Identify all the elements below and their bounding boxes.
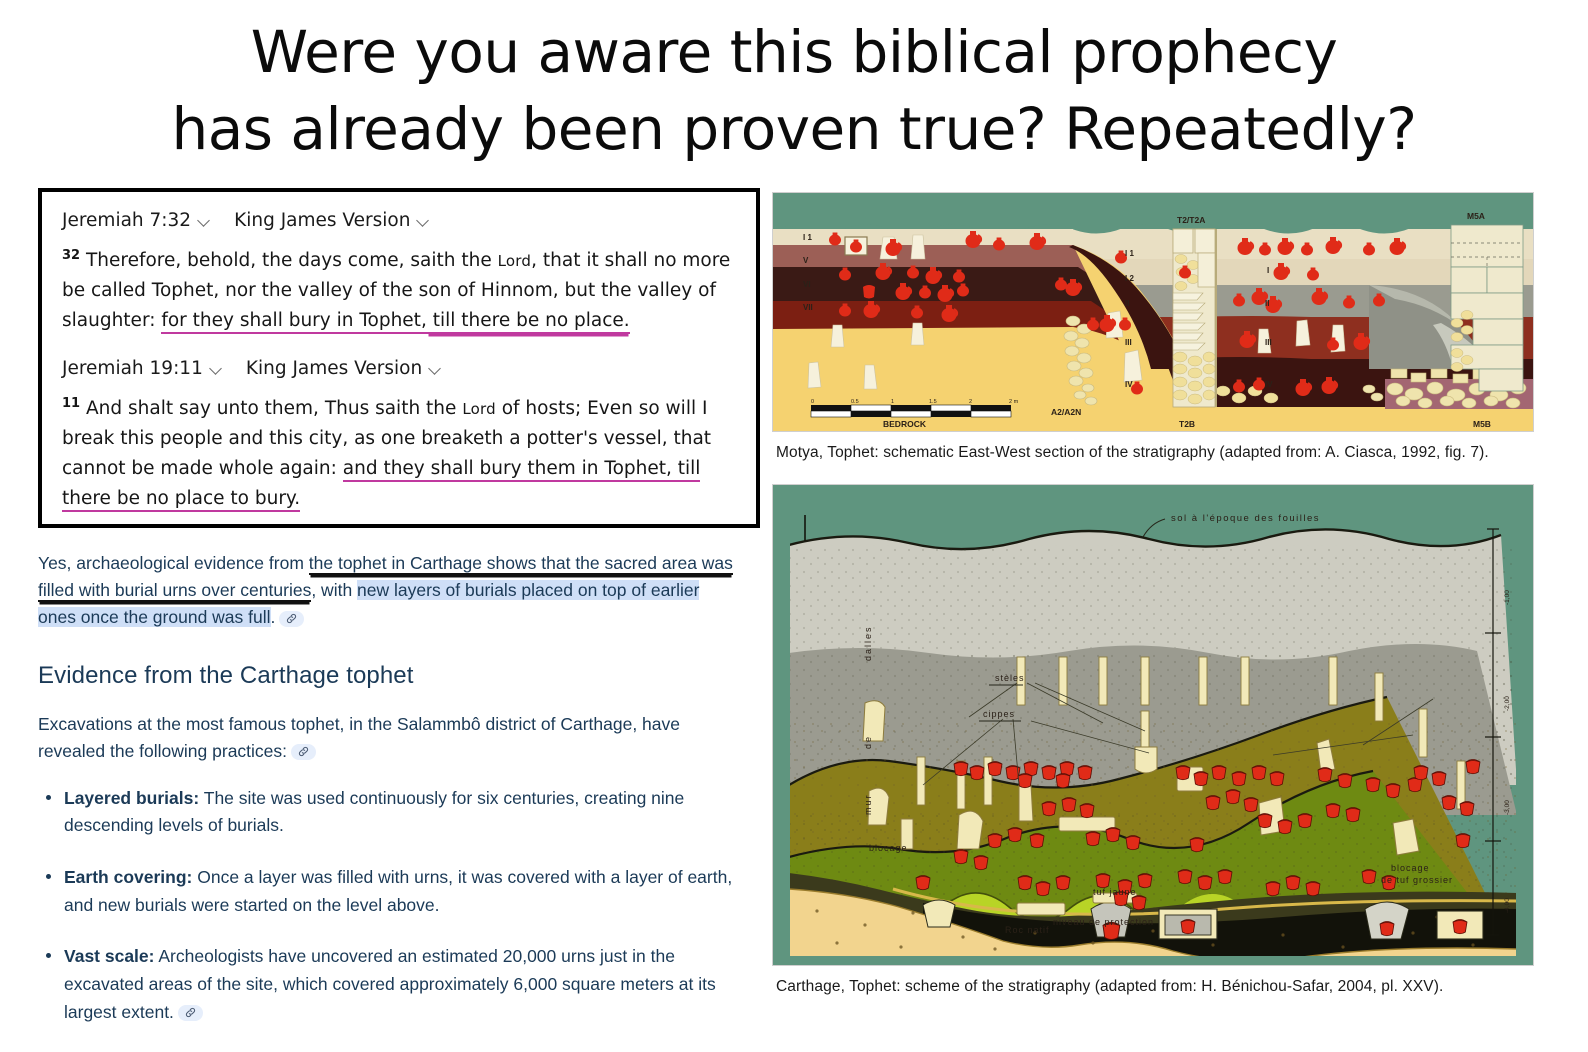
divine-name: Lord: [498, 252, 532, 270]
carthage-label-niveau: niveau de protection: [1053, 917, 1154, 927]
carthage-label-cippes: cippes: [983, 709, 1015, 719]
verse-reference-selector[interactable]: Jeremiah 19:11: [62, 358, 203, 379]
motya-label-I2-right: I 2: [1125, 274, 1134, 283]
carthage-label-mur: mur: [863, 794, 873, 816]
chevron-down-icon[interactable]: [429, 363, 441, 375]
verse-text: 32 Therefore, behold, the days come, sai…: [62, 245, 738, 336]
translation-selector[interactable]: King James Version: [234, 210, 410, 231]
motya-figure-caption: Motya, Tophet: schematic East-West secti…: [776, 444, 1534, 462]
right-figure-column: I 1 V VI VII I 1 I 2 II III IV I II III …: [772, 192, 1534, 996]
verse-number: 11: [62, 396, 80, 411]
carthage-label-sol: sol à l'époque des fouilles: [1171, 513, 1320, 524]
answer-intro-c: .: [271, 607, 276, 627]
carthage-label-de: de: [863, 735, 873, 749]
motya-figure: I 1 V VI VII I 1 I 2 II III IV I II III …: [772, 192, 1534, 432]
motya-label-I: I: [1267, 266, 1269, 275]
motya-label-III: III: [1265, 338, 1272, 347]
list-item-label: Vast scale:: [64, 946, 154, 966]
svg-text:-1,00: -1,00: [1504, 590, 1511, 605]
motya-label-II: II: [1265, 299, 1269, 308]
answer-intro-b: , with: [311, 580, 357, 600]
chevron-down-icon[interactable]: [417, 215, 429, 227]
verse-text: 11 And shalt say unto them, Thus saith t…: [62, 393, 738, 514]
carthage-label-dalles: dalles: [863, 625, 873, 661]
practices-list: Layered burials: The site was used conti…: [38, 785, 738, 1026]
headline-line-1: Were you aware this biblical prophecy: [0, 14, 1588, 91]
list-item: Vast scale: Archeologists have uncovered…: [60, 943, 738, 1026]
motya-label-M5B: M5B: [1473, 419, 1491, 429]
link-icon[interactable]: [291, 744, 316, 760]
list-item-text: Archeologists have uncovered an estimate…: [64, 946, 716, 1021]
carthage-label-roc-natif: Roc natif: [1005, 925, 1050, 935]
motya-label-M5A: M5A: [1467, 211, 1485, 221]
svg-text:2: 2: [969, 399, 972, 405]
chevron-down-icon[interactable]: [198, 215, 210, 227]
list-item: Earth covering: Once a layer was filled …: [60, 864, 738, 919]
scripture-card: Jeremiah 7:32 King James Version 32 Ther…: [38, 188, 760, 528]
motya-label-T2B: T2B: [1179, 419, 1195, 429]
carthage-label-tuf-jaune: tuf jaune: [1093, 887, 1137, 897]
translation-selector[interactable]: King James Version: [246, 358, 422, 379]
verse-text-part-1: Therefore, behold, the days come, saith …: [86, 250, 498, 271]
verse-header: Jeremiah 19:11 King James Version: [62, 358, 738, 379]
carthage-label-tuf-grossier: de tuf grossier: [1381, 875, 1453, 885]
motya-label-T2-T2A: T2/T2A: [1177, 215, 1205, 225]
verse-reference-selector[interactable]: Jeremiah 7:32: [62, 210, 191, 231]
divine-name: Lord: [462, 400, 496, 418]
motya-label-VII: VII: [803, 303, 813, 312]
link-icon[interactable]: [178, 1005, 203, 1021]
svg-text:1: 1: [891, 399, 894, 405]
verse-text-part-1: And shalt say unto them, Thus saith the: [86, 398, 462, 419]
svg-text:-2,00: -2,00: [1504, 696, 1511, 711]
motya-label-IV: IV: [1265, 380, 1273, 389]
verse-number: 32: [62, 248, 80, 263]
motya-label-I1-right: I 1: [1125, 249, 1134, 258]
carthage-label-blocage-2: blocage: [1391, 863, 1430, 873]
motya-label-III-right: III: [1125, 338, 1132, 347]
answer-intro-a: Yes, archaeological evidence from: [38, 553, 309, 573]
verse-highlight-2: till there be no place.: [427, 310, 630, 334]
headline-line-2: has already been proven true? Repeatedly…: [0, 91, 1588, 168]
svg-text:1.5: 1.5: [929, 399, 937, 405]
svg-text:0: 0: [811, 399, 814, 405]
answer-section-heading: Evidence from the Carthage tophet: [38, 657, 738, 694]
answer-lead-in-text: Excavations at the most famous tophet, i…: [38, 714, 680, 761]
ai-answer-body: Yes, archaeological evidence from the to…: [38, 550, 738, 1026]
page-title: Were you aware this biblical prophecy ha…: [0, 14, 1588, 167]
chevron-down-icon[interactable]: [210, 363, 222, 375]
verse-block-jeremiah-7-32: Jeremiah 7:32 King James Version 32 Ther…: [60, 210, 738, 336]
verse-highlight-1: for they shall bury in Tophet,: [161, 310, 426, 334]
svg-text:-4,00: -4,00: [1504, 898, 1511, 913]
carthage-label-steles: stèles: [995, 673, 1025, 683]
motya-label-VI: VI: [803, 280, 811, 289]
left-content-column: Jeremiah 7:32 King James Version 32 Ther…: [38, 188, 760, 1050]
verse-header: Jeremiah 7:32 King James Version: [62, 210, 738, 231]
verse-block-jeremiah-19-11: Jeremiah 19:11 King James Version 11 And…: [60, 358, 738, 514]
svg-text:-3,00: -3,00: [1504, 800, 1511, 815]
carthage-figure: dalles de mur sol à l'époque des fouille…: [772, 484, 1534, 966]
svg-text:2 m: 2 m: [1009, 399, 1019, 405]
answer-lead-in: Excavations at the most famous tophet, i…: [38, 711, 738, 765]
carthage-figure-caption: Carthage, Tophet: scheme of the stratigr…: [776, 978, 1534, 996]
motya-label-A2-A2N: A2/A2N: [1051, 407, 1081, 417]
list-item: Layered burials: The site was used conti…: [60, 785, 738, 840]
motya-label-bedrock: BEDROCK: [883, 419, 927, 429]
list-item-label: Layered burials:: [64, 788, 199, 808]
carthage-label-blocage: blocage: [869, 843, 908, 853]
svg-text:0.5: 0.5: [851, 399, 859, 405]
motya-label-I1: I 1: [803, 233, 812, 242]
motya-label-II-right: II: [1125, 299, 1129, 308]
list-item-label: Earth covering:: [64, 867, 192, 887]
link-icon[interactable]: [279, 611, 304, 627]
motya-label-IV-right: IV: [1125, 380, 1133, 389]
answer-intro-paragraph: Yes, archaeological evidence from the to…: [38, 550, 738, 631]
motya-label-V: V: [803, 256, 809, 265]
